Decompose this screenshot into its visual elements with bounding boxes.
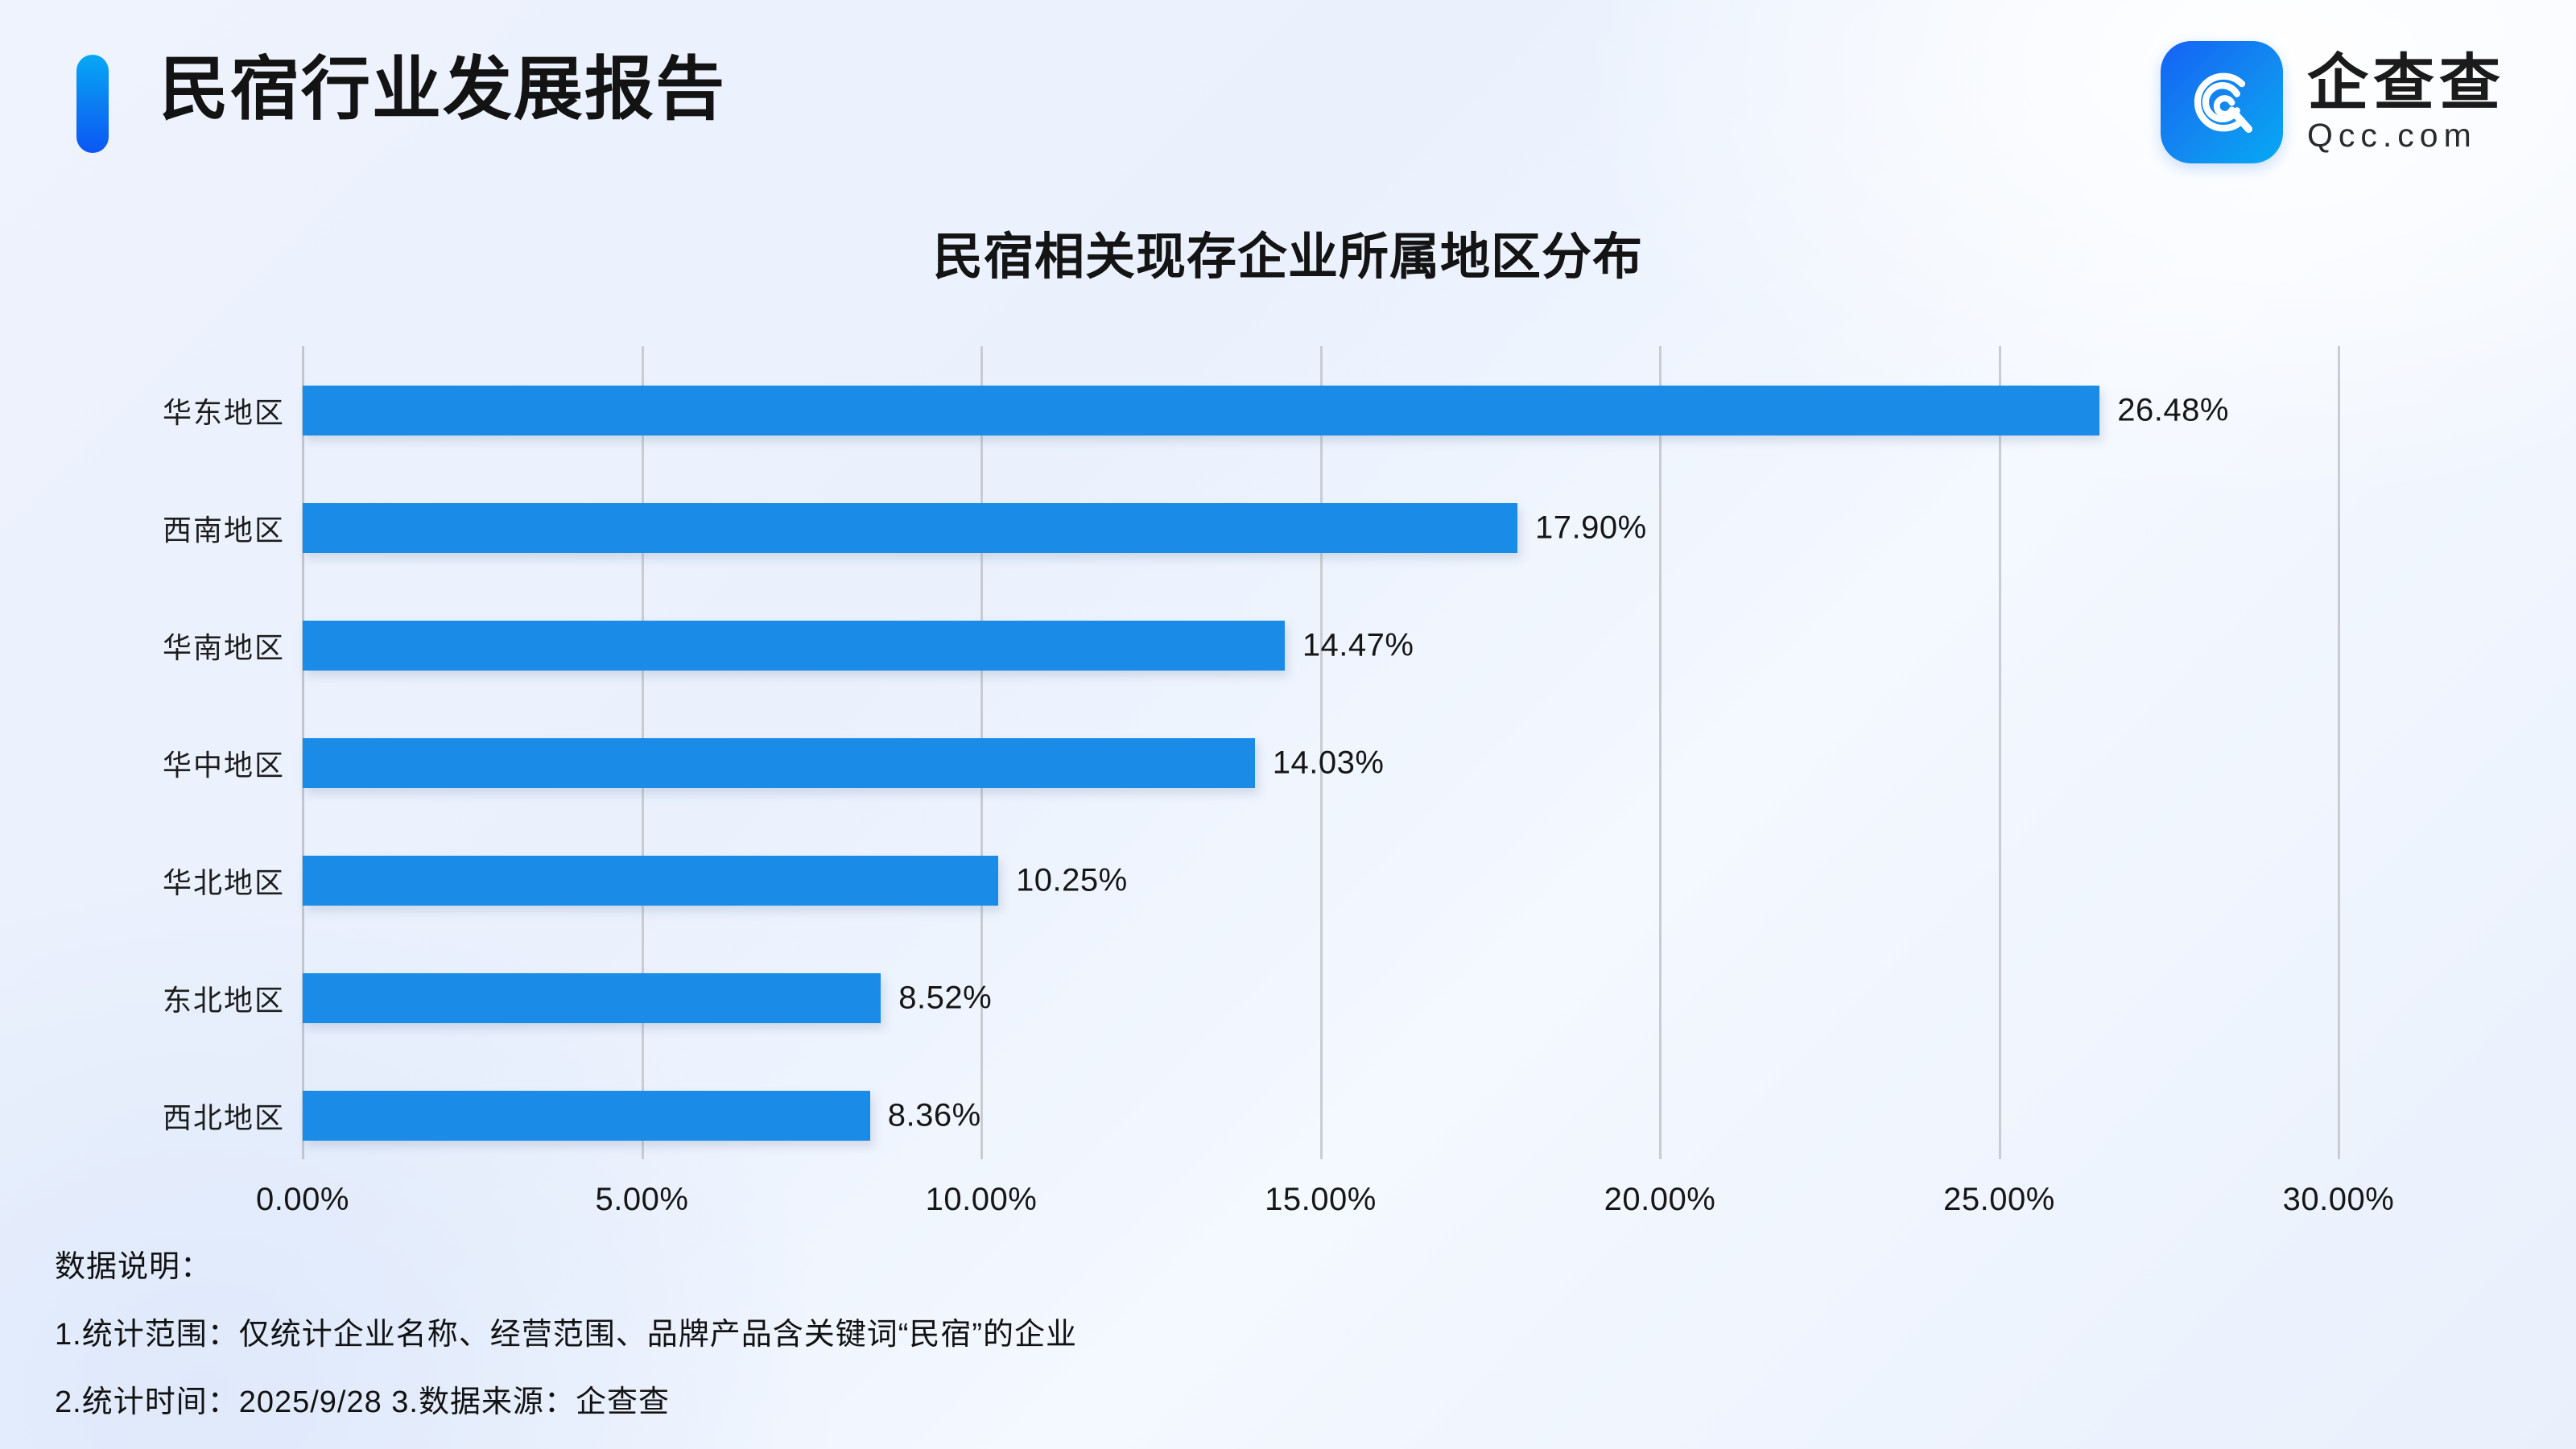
y-axis-label-华中地区: 华中地区 xyxy=(163,742,285,784)
bar-华南地区 xyxy=(303,621,1285,671)
x-tick-label: 0.00% xyxy=(256,1182,349,1218)
bar-value-label: 8.52% xyxy=(898,980,992,1017)
bar-西北地区 xyxy=(303,1091,870,1141)
bar-华东地区 xyxy=(303,386,2099,436)
brand-name-cn: 企查查 xyxy=(2307,53,2505,114)
page-header: 民宿行业发展报告 企查查 Qcc.com xyxy=(0,0,2576,201)
qcc-q-search-icon xyxy=(2161,41,2283,163)
x-tick-label: 20.00% xyxy=(1604,1182,1716,1218)
notes-heading: 数据说明： xyxy=(55,1252,1987,1282)
brand-logo: 企查查 Qcc.com xyxy=(2161,42,2505,163)
gridline-30.00% xyxy=(2338,346,2340,1159)
bar-东北地区 xyxy=(303,973,881,1023)
gridline-20.00% xyxy=(1659,346,1662,1159)
page-title: 民宿行业发展报告 xyxy=(159,47,726,134)
y-axis-label-东北地区: 东北地区 xyxy=(163,977,285,1019)
bar-华中地区 xyxy=(303,738,1255,788)
notes-line-1: 1.统计范围：仅统计企业名称、经营范围、品牌产品含关键词“民宿”的企业 xyxy=(55,1319,1987,1350)
bar-华北地区 xyxy=(303,856,998,906)
y-axis-label-华南地区: 华南地区 xyxy=(163,625,285,667)
y-axis-label-华北地区: 华北地区 xyxy=(163,860,285,902)
brand-text: 企查查 Qcc.com xyxy=(2307,53,2505,152)
bar-value-label: 8.36% xyxy=(888,1098,981,1134)
gridline-25.00% xyxy=(1999,346,2001,1159)
bar-value-label: 14.47% xyxy=(1302,628,1414,664)
y-axis-label-华东地区: 华东地区 xyxy=(163,390,285,431)
brand-name-en: Qcc.com xyxy=(2307,119,2505,152)
bar-value-label: 17.90% xyxy=(1535,510,1647,547)
y-axis-label-西北地区: 西北地区 xyxy=(163,1095,285,1137)
x-tick-label: 30.00% xyxy=(2283,1182,2395,1218)
x-tick-label: 10.00% xyxy=(926,1182,1038,1218)
title-accent-bar xyxy=(76,55,109,153)
bar-西南地区 xyxy=(303,503,1517,553)
bar-value-label: 26.48% xyxy=(2117,393,2229,429)
x-tick-label: 5.00% xyxy=(596,1182,689,1218)
x-tick-label: 25.00% xyxy=(1943,1182,2055,1218)
bar-value-label: 10.25% xyxy=(1016,863,1128,899)
bar-value-label: 14.03% xyxy=(1273,745,1385,782)
data-notes: 数据说明： 1.统计范围：仅统计企业名称、经营范围、品牌产品含关键词“民宿”的企… xyxy=(55,1252,1987,1418)
chart-title: 民宿相关现存企业所属地区分布 xyxy=(0,216,2576,288)
x-tick-label: 15.00% xyxy=(1265,1182,1377,1218)
y-axis-label-西南地区: 西南地区 xyxy=(163,507,285,549)
bar-chart: 26.48%17.90%14.47%14.03%10.25%8.52%8.36%… xyxy=(0,322,2576,1207)
notes-line-2: 2.统计时间：2025/9/28 3.数据来源：企查查 xyxy=(55,1387,1987,1418)
